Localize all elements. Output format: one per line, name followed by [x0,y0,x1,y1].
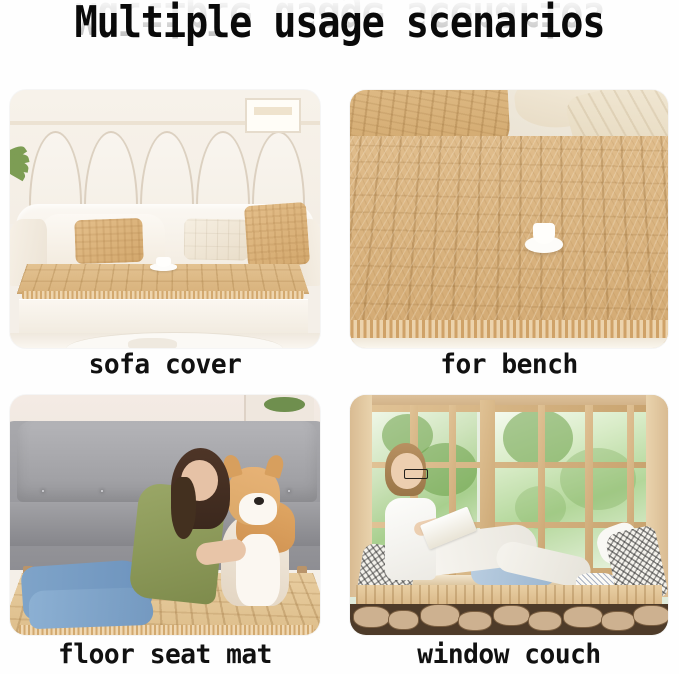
floor-seat-mat-scene [10,395,320,635]
throw-pillow-cream [183,218,249,260]
caption-for-bench: for bench [355,350,663,380]
sofa-cover-scene [10,90,320,348]
panel-for-bench [350,90,668,348]
quilt-chevron-texture [350,136,668,343]
cup-and-saucer [150,255,178,270]
throw-pillow-tan [244,201,310,267]
caption-floor-seat-mat: floor seat mat [15,640,316,670]
house-plant [264,397,304,411]
caption-sofa-cover: sofa cover [15,350,316,380]
page-title-reflection: Multiple usage scenarios [20,0,658,42]
cup-and-saucer [525,219,563,253]
throw-pillow-tan [74,218,144,264]
house-plant [10,157,41,209]
woman-jeans-lower [28,587,153,630]
panel-sofa-cover [10,90,320,348]
firewood-stack [350,604,668,635]
panel-floor-seat-mat [10,395,320,635]
window-frame-mullion [585,405,593,575]
slippers [128,338,178,348]
eyeglasses [404,469,428,478]
floor [350,338,668,348]
wall-picture-frame [245,98,302,133]
window-couch-scene [350,395,668,635]
panel-window-couch [350,395,668,635]
caption-window-couch: window couch [355,640,663,670]
for-bench-scene [350,90,668,348]
bench-seat-cover [350,136,668,343]
product-infographic: Multiple usage scenarios Multiple usage … [0,0,679,674]
woman-hair-strand [171,477,196,539]
title-block: Multiple usage scenarios Multiple usage … [0,0,679,84]
